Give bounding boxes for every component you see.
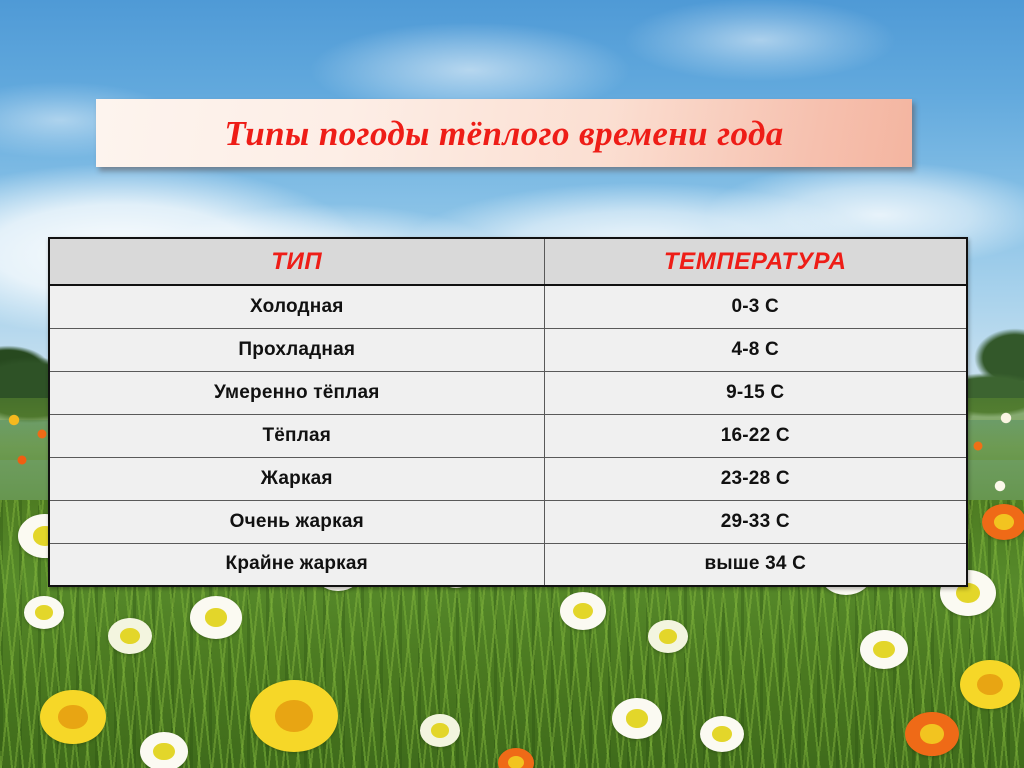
poppy-flower-icon	[905, 712, 959, 756]
cell-temperature: выше 34 С	[544, 543, 967, 586]
poppy-flower-icon	[982, 504, 1024, 540]
table-header: ТИП ТЕМПЕРАТУРА	[49, 238, 967, 285]
table-row: Холодная0-3 С	[49, 285, 967, 328]
poppy-flower-icon	[190, 596, 242, 639]
cell-weather-type: Тёплая	[49, 414, 544, 457]
cell-temperature: 0-3 С	[544, 285, 967, 328]
cell-temperature: 9-15 С	[544, 371, 967, 414]
cell-weather-type: Очень жаркая	[49, 500, 544, 543]
page-title: Типы погоды тёплого времени года	[224, 116, 783, 151]
slide-canvas: Типы погоды тёплого времени года ТИП ТЕМ…	[0, 0, 1024, 768]
poppy-flower-icon	[250, 680, 338, 752]
poppy-flower-icon	[498, 748, 534, 768]
table-row: Жаркая23-28 С	[49, 457, 967, 500]
column-header-temperature: ТЕМПЕРАТУРА	[544, 238, 967, 285]
poppy-flower-icon	[40, 690, 106, 744]
poppy-flower-icon	[140, 732, 188, 768]
weather-table-container: ТИП ТЕМПЕРАТУРА Холодная0-3 СПрохладная4…	[48, 237, 966, 587]
poppy-flower-icon	[108, 618, 152, 654]
cell-weather-type: Крайне жаркая	[49, 543, 544, 586]
table-header-row: ТИП ТЕМПЕРАТУРА	[49, 238, 967, 285]
poppy-flower-icon	[612, 698, 662, 739]
table-row: Тёплая16-22 С	[49, 414, 967, 457]
table-row: Очень жаркая29-33 С	[49, 500, 967, 543]
cell-temperature: 16-22 С	[544, 414, 967, 457]
cell-temperature: 4-8 С	[544, 328, 967, 371]
poppy-flower-icon	[648, 620, 688, 653]
table-row: Умеренно тёплая9-15 С	[49, 371, 967, 414]
poppy-flower-icon	[960, 660, 1020, 709]
column-header-type: ТИП	[49, 238, 544, 285]
title-banner: Типы погоды тёплого времени года	[96, 99, 912, 167]
poppy-flower-icon	[24, 596, 64, 629]
weather-types-table: ТИП ТЕМПЕРАТУРА Холодная0-3 СПрохладная4…	[48, 237, 968, 587]
table-body: Холодная0-3 СПрохладная4-8 СУмеренно тёп…	[49, 285, 967, 586]
poppy-flower-icon	[560, 592, 606, 630]
cell-weather-type: Жаркая	[49, 457, 544, 500]
cell-weather-type: Холодная	[49, 285, 544, 328]
cell-weather-type: Прохладная	[49, 328, 544, 371]
cell-temperature: 29-33 С	[544, 500, 967, 543]
cell-temperature: 23-28 С	[544, 457, 967, 500]
table-row: Прохладная4-8 С	[49, 328, 967, 371]
table-row: Крайне жаркаявыше 34 С	[49, 543, 967, 586]
cell-weather-type: Умеренно тёплая	[49, 371, 544, 414]
poppy-flower-icon	[420, 714, 460, 747]
poppy-flower-icon	[700, 716, 744, 752]
poppy-flower-icon	[860, 630, 908, 669]
